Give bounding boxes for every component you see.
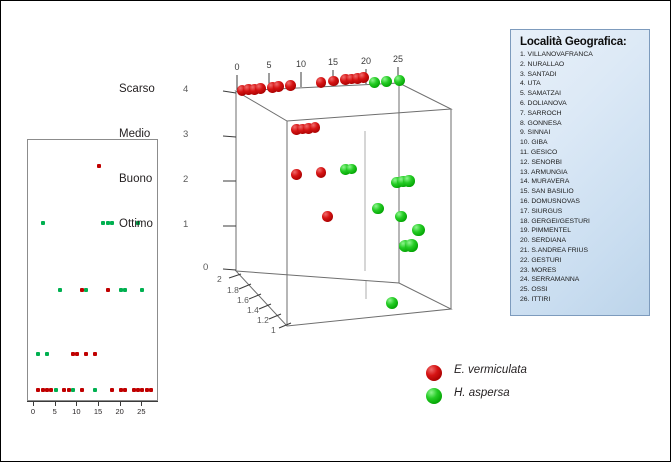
strip-point-green [93, 388, 97, 392]
locality-item: 13. ARMUNGIA [520, 168, 642, 178]
strip-axis-tick [98, 401, 99, 406]
scatter3d-x-tick-label: 20 [361, 56, 371, 66]
species-legend-label: H. aspersa [454, 387, 510, 399]
strip-point-red [84, 352, 88, 356]
strip-axis-tick-label: 20 [115, 407, 123, 416]
species-legend-swatch-green [426, 388, 442, 404]
strip-axis-tick [55, 401, 56, 406]
strip-axis-tick [141, 401, 142, 406]
scatter3d-point-red [285, 80, 296, 91]
scatter3d-y-category-label: Buono [119, 173, 152, 185]
scatter3d-y-tick-number: 0 [203, 262, 208, 273]
strip-axis-tick [120, 401, 121, 406]
scatter3d-point-green [346, 164, 357, 175]
strip-point-green [54, 388, 58, 392]
locality-item: 6. DOLIANOVA [520, 99, 642, 109]
scatter3d-z-tick-label: 1.8 [227, 285, 239, 295]
strip-point-red [106, 288, 110, 292]
scatter3d-point-green [394, 75, 405, 86]
locality-item: 19. PIMMENTEL [520, 226, 642, 236]
locality-item: 17. SIURGUS [520, 207, 642, 217]
strip-point-red [75, 352, 79, 356]
scatter3d-point-green [412, 224, 424, 236]
scatter3d-panel: 0510152025Scarso4Medio3Buono2Ottimo1021.… [161, 31, 461, 361]
locality-item: 11. GESICO [520, 148, 642, 158]
strip-point-red [110, 388, 114, 392]
locality-item: 21. S.ANDREA FRIUS [520, 246, 642, 256]
locality-item: 5. SAMATZAI [520, 89, 642, 99]
scatter3d-z-tick-label: 1.2 [257, 315, 269, 325]
strip-point-red [149, 388, 153, 392]
strip-axis-line [27, 401, 158, 402]
locality-item: 24. SERRAMANNA [520, 275, 642, 285]
locality-item: 15. SAN BASILIO [520, 187, 642, 197]
scatter3d-x-tick-label: 0 [234, 62, 239, 72]
strip-axis-tick [76, 401, 77, 406]
locality-item: 7. SARROCH [520, 109, 642, 119]
scatter3d-point-green [372, 203, 384, 215]
locality-item: 3. SANTADI [520, 70, 642, 80]
locality-item: 25. OSSI [520, 285, 642, 295]
figure-frame: 0510152025 [0, 0, 671, 462]
scatter3d-point-green [403, 175, 414, 186]
locality-item: 12. SENORBI [520, 158, 642, 168]
locality-legend-box: Località Geografica: 1. VILLANOVAFRANCA2… [510, 29, 650, 316]
strip-point-green [110, 221, 114, 225]
locality-item: 16. DOMUSNOVAS [520, 197, 642, 207]
scatter3d-x-tick-label: 5 [266, 60, 271, 70]
scatter3d-point-red [322, 211, 333, 222]
scatter3d-z-tick-label: 1.6 [237, 295, 249, 305]
species-legend-label: E. vermiculata [454, 364, 527, 376]
strip-point-green [41, 221, 45, 225]
strip-axis-tick-label: 25 [137, 407, 145, 416]
scatter3d-x-tick-label: 25 [393, 54, 403, 64]
scatter3d-point-green [405, 239, 417, 251]
strip-point-red [62, 388, 66, 392]
species-legend-swatch-red [426, 365, 442, 381]
scatter3d-point-red [316, 167, 327, 178]
strip-axis-tick-label: 10 [72, 407, 80, 416]
locality-item: 9. SINNAI [520, 128, 642, 138]
strip-point-green [101, 221, 105, 225]
scatter3d-x-tick-label: 10 [296, 59, 306, 69]
locality-item: 18. GERGEI/GESTURI [520, 217, 642, 227]
scatter3d-box-wireframe [161, 31, 461, 361]
strip-point-red [93, 352, 97, 356]
scatter3d-z-tick-label: 1 [271, 325, 276, 335]
strip-axis-tick [33, 401, 34, 406]
locality-item: 2. NURALLAO [520, 60, 642, 70]
scatter3d-y-category-label: Scarso [119, 83, 155, 95]
locality-item: 26. ITTIRI [520, 295, 642, 305]
locality-item: 8. GONNESA [520, 119, 642, 129]
locality-item: 20. SERDIANA [520, 236, 642, 246]
strip-axis-tick-label: 5 [53, 407, 57, 416]
strip-point-green [45, 352, 49, 356]
strip-plot-x-axis: 0510152025 [27, 401, 158, 421]
scatter3d-y-category-label: Medio [119, 128, 150, 140]
strip-point-green [84, 288, 88, 292]
scatter3d-point-red [273, 81, 284, 92]
locality-item: 10. GIBA [520, 138, 642, 148]
scatter3d-point-red [255, 83, 266, 94]
locality-legend-list: 1. VILLANOVAFRANCA2. NURALLAO3. SANTADI4… [520, 50, 642, 305]
locality-item: 14. MURAVERA [520, 177, 642, 187]
strip-point-red [80, 388, 84, 392]
strip-point-green [36, 352, 40, 356]
scatter3d-y-category-label: Ottimo [119, 218, 153, 230]
locality-item: 1. VILLANOVAFRANCA [520, 50, 642, 60]
scatter3d-point-red [328, 76, 339, 87]
strip-point-red [49, 388, 53, 392]
scatter3d-y-tick-number: 1 [183, 219, 188, 230]
strip-point-green [140, 288, 144, 292]
strip-point-red [36, 388, 40, 392]
scatter3d-y-tick-number: 2 [183, 174, 188, 185]
scatter3d-x-tick-label: 15 [328, 57, 338, 67]
scatter3d-y-tick-number: 4 [183, 84, 188, 95]
locality-legend-title: Località Geografica: [520, 36, 642, 48]
strip-point-green [71, 388, 75, 392]
locality-item: 23. MORES [520, 266, 642, 276]
scatter3d-z-tick-label: 2 [217, 274, 222, 284]
strip-axis-tick-label: 0 [31, 407, 35, 416]
locality-item: 22. GESTURI [520, 256, 642, 266]
scatter3d-point-red [316, 77, 327, 88]
locality-item: 4. UTA [520, 79, 642, 89]
strip-point-red [97, 164, 101, 168]
strip-point-red [123, 388, 127, 392]
strip-axis-tick-label: 15 [94, 407, 102, 416]
scatter3d-y-tick-number: 3 [183, 129, 188, 140]
scatter3d-z-tick-label: 1.4 [247, 305, 259, 315]
strip-point-green [123, 288, 127, 292]
strip-point-red [140, 388, 144, 392]
strip-point-green [58, 288, 62, 292]
